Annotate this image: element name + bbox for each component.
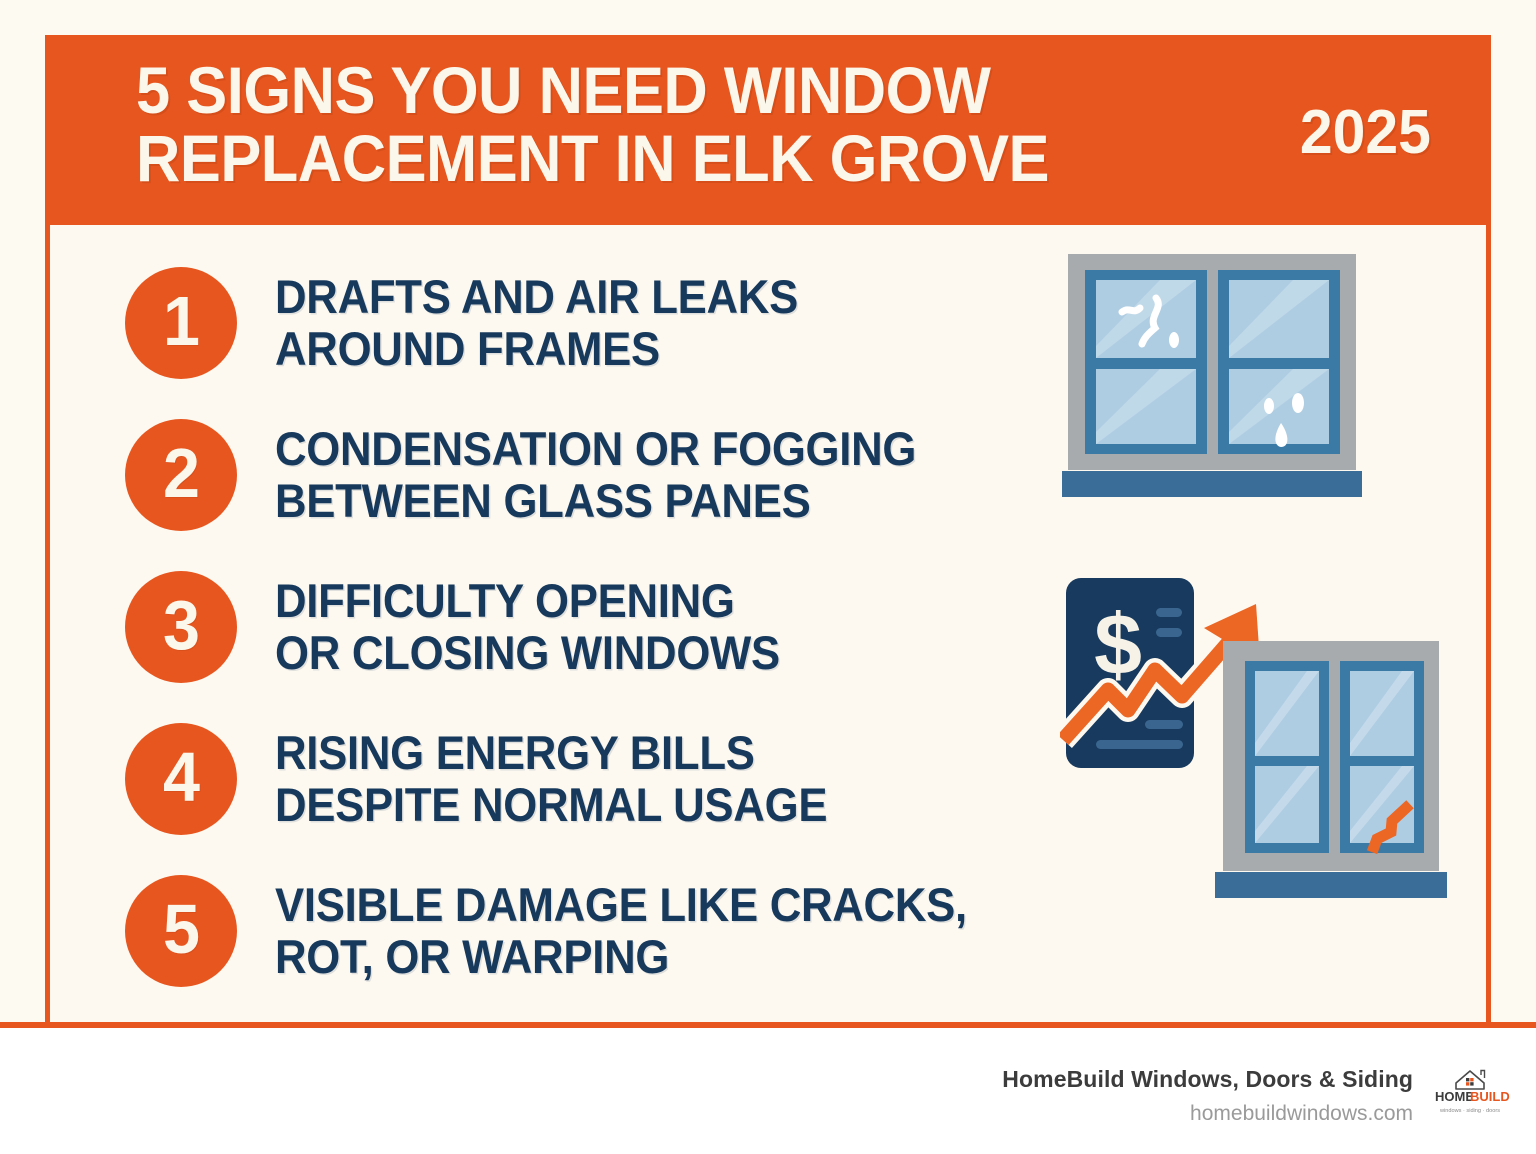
- number-badge-4: 4: [125, 723, 237, 835]
- infographic-canvas: 5 SIGNS YOU NEED WINDOW REPLACEMENT IN E…: [0, 0, 1536, 1154]
- number-badge-5: 5: [125, 875, 237, 987]
- number-badge-label: 3: [163, 590, 200, 660]
- window-with-condensation-icon: [1060, 250, 1380, 500]
- logo-build-text: BUILD: [1470, 1089, 1510, 1104]
- logo-home-text: HOME: [1435, 1089, 1474, 1104]
- number-badge-3: 3: [125, 571, 237, 683]
- sign-text-2: CONDENSATION OR FOGGING BETWEEN GLASS PA…: [275, 423, 916, 526]
- number-badge-label: 4: [163, 742, 200, 812]
- list-item: 1 DRAFTS AND AIR LEAKS AROUND FRAMES: [125, 247, 1045, 399]
- sign-text-3: DIFFICULTY OPENING OR CLOSING WINDOWS: [275, 575, 780, 678]
- sign-text-1: DRAFTS AND AIR LEAKS AROUND FRAMES: [275, 271, 798, 374]
- list-item: 4 RISING ENERGY BILLS DESPITE NORMAL USA…: [125, 703, 1045, 855]
- footer: HomeBuild Windows, Doors & Siding homebu…: [0, 1028, 1536, 1154]
- logo-tagline: windows · siding · doors: [1439, 1108, 1500, 1114]
- page-title-line-2: REPLACEMENT IN ELK GROVE: [136, 125, 1094, 193]
- sign-text-4: RISING ENERGY BILLS DESPITE NORMAL USAGE: [275, 727, 827, 830]
- page-title: 5 SIGNS YOU NEED WINDOW REPLACEMENT IN E…: [136, 57, 1094, 193]
- footer-text-block: HomeBuild Windows, Doors & Siding homebu…: [1002, 1066, 1413, 1126]
- list-item: 5 VISIBLE DAMAGE LIKE CRACKS, ROT, OR WA…: [125, 855, 1045, 1007]
- year-label: 2025: [1300, 97, 1431, 168]
- website-url[interactable]: homebuildwindows.com: [1002, 1102, 1413, 1126]
- signs-list: 1 DRAFTS AND AIR LEAKS AROUND FRAMES 2 C…: [125, 247, 1045, 1007]
- header-band: 5 SIGNS YOU NEED WINDOW REPLACEMENT IN E…: [50, 35, 1486, 225]
- number-badge-1: 1: [125, 267, 237, 379]
- sign-text-5: VISIBLE DAMAGE LIKE CRACKS, ROT, OR WARP…: [275, 879, 967, 982]
- page-title-line-1: 5 SIGNS YOU NEED WINDOW: [136, 57, 1094, 125]
- number-badge-label: 1: [163, 286, 200, 356]
- list-item: 2 CONDENSATION OR FOGGING BETWEEN GLASS …: [125, 399, 1045, 551]
- main-card: 5 SIGNS YOU NEED WINDOW REPLACEMENT IN E…: [45, 35, 1491, 1025]
- number-badge-label: 2: [163, 438, 200, 508]
- list-item: 3 DIFFICULTY OPENING OR CLOSING WINDOWS: [125, 551, 1045, 703]
- homebuild-logo: HOME BUILD windows · siding · doors: [1426, 1064, 1514, 1122]
- number-badge-label: 5: [163, 894, 200, 964]
- body-area: 1 DRAFTS AND AIR LEAKS AROUND FRAMES 2 C…: [50, 225, 1486, 1025]
- cracked-window-icon: [1215, 635, 1465, 905]
- company-name: HomeBuild Windows, Doors & Siding: [1002, 1066, 1413, 1093]
- number-badge-2: 2: [125, 419, 237, 531]
